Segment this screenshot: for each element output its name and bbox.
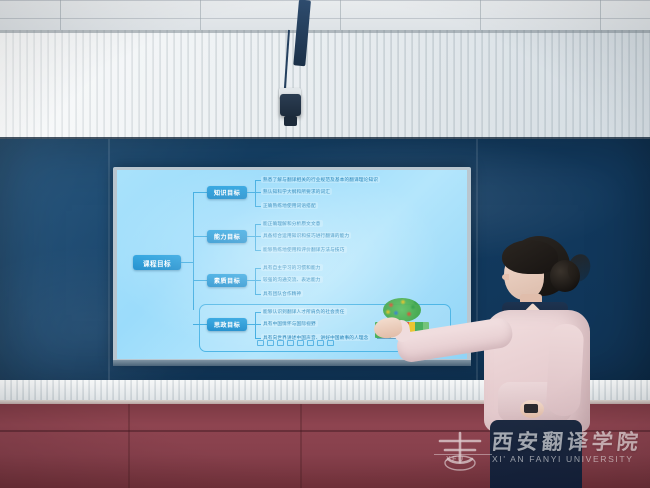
glyph-6 <box>307 340 314 346</box>
board-seam-left <box>108 139 110 387</box>
root-label: 课程目标 <box>143 258 171 268</box>
leaf-knowledge-3: 正确熟练地使用词语搭配 <box>261 202 318 209</box>
leaf-ideology-1: 能够认识到翻译人才所肩负的社会责任 <box>261 308 347 315</box>
hair-front <box>502 240 558 274</box>
branch-label-knowledge: 知识目标 <box>214 188 240 197</box>
glyph-4 <box>287 340 294 346</box>
presentation-clicker <box>524 404 538 413</box>
glyph-2 <box>267 340 274 346</box>
ceiling <box>0 0 650 32</box>
glyph-3 <box>277 340 284 346</box>
camera-base <box>284 116 297 126</box>
right-arm <box>546 323 585 417</box>
mindmap-branch-quality[interactable]: 素质目标 <box>207 274 247 287</box>
leaf-ideology-2: 具有中国情怀与国际视野 <box>261 320 318 327</box>
classroom-photo: 课程目标 知识目标 熟悉了解与翻译相关的行业规范及基本的翻译理论知识 熟认知科学… <box>0 0 650 488</box>
leaf-ability-3: 能够熟练地使用和评价翻译方法与技巧 <box>261 246 347 253</box>
glyph-7 <box>317 340 324 346</box>
branch-label-ability: 能力目标 <box>214 232 240 241</box>
leaf-knowledge-2: 熟认知科学大纲和所要求的词汇 <box>261 188 332 195</box>
trousers <box>490 420 582 488</box>
ceiling-camera <box>280 94 301 116</box>
mindmap-branch-knowledge[interactable]: 知识目标 <box>207 186 247 199</box>
mindmap-branch-ability[interactable]: 能力目标 <box>207 230 247 243</box>
nose <box>502 274 509 280</box>
glyph-8 <box>327 340 334 346</box>
mindmap-root-node[interactable]: 课程目标 <box>133 255 181 270</box>
slide-glyph-row <box>257 340 353 346</box>
instructor <box>398 232 598 488</box>
mindmap-branch-ideology[interactable]: 思政目标 <box>207 318 247 331</box>
leaf-quality-3: 具有团队合作精神 <box>261 290 303 297</box>
leaf-quality-1: 具有自主学习的习惯和能力 <box>261 264 323 271</box>
leaf-quality-2: 较强的沟通交流、表达能力 <box>261 276 323 283</box>
leaf-ability-1: 能正确理解和分析原文文意 <box>261 220 323 227</box>
leaf-ability-2: 具备综合运用知识和技巧进行翻译的能力 <box>261 232 351 239</box>
branch-label-ideology: 思政目标 <box>214 320 240 329</box>
branch-label-quality: 素质目标 <box>214 276 240 285</box>
glyph-5 <box>297 340 304 346</box>
glyph-1 <box>257 340 264 346</box>
leaf-knowledge-1: 熟悉了解与翻译相关的行业规范及基本的翻译理论知识 <box>261 176 380 183</box>
